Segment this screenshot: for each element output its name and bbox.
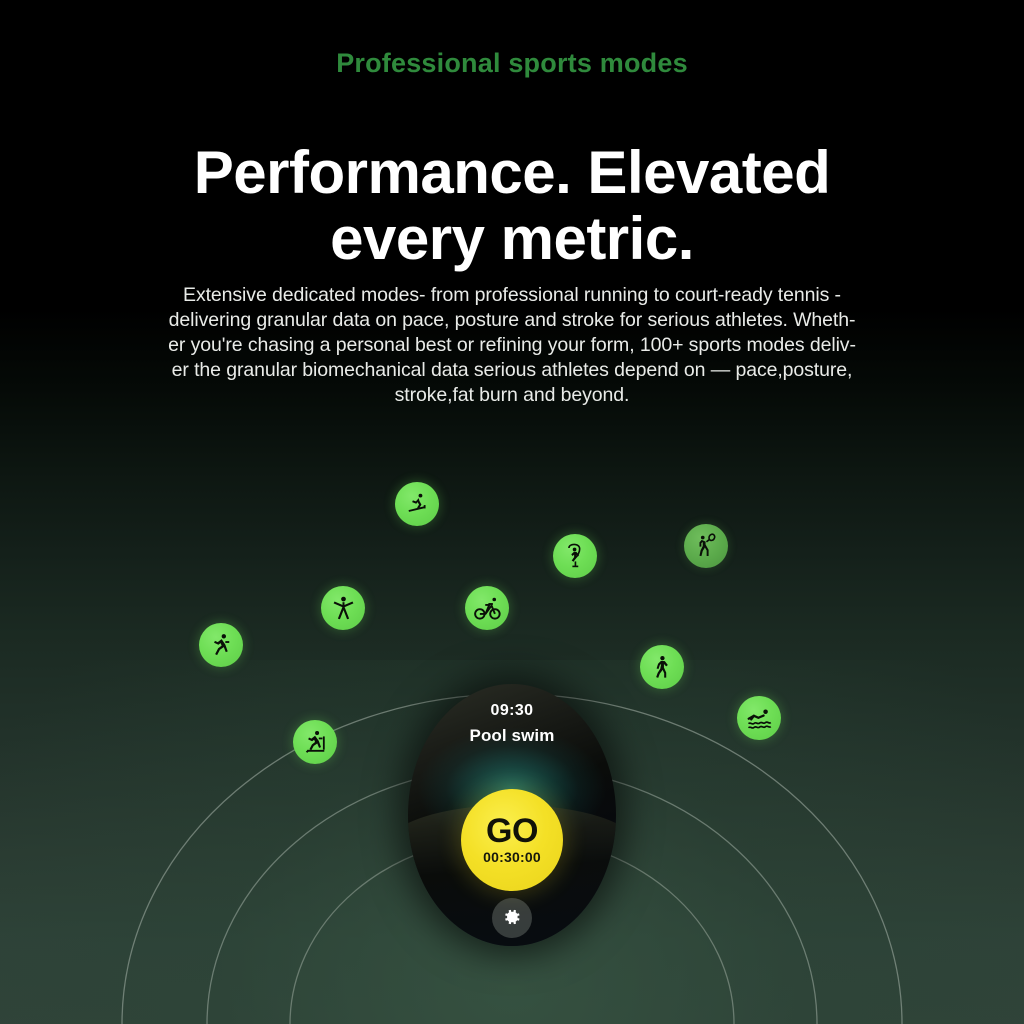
sport-mode-running[interactable] — [199, 623, 243, 667]
body-line: Extensive dedicated modes- from professi… — [96, 283, 928, 308]
watch-clock: 09:30 — [408, 702, 616, 720]
headline-line-2: every metric. — [0, 206, 1024, 272]
go-button-timer: 00:30:00 — [483, 848, 541, 866]
go-button-label: GO — [486, 815, 538, 847]
tennis-icon — [693, 533, 719, 559]
jump-rope-icon — [562, 543, 588, 569]
sport-mode-cycling[interactable] — [465, 586, 509, 630]
body-line: delivering granular data on pace, postur… — [96, 308, 928, 333]
body-line: er the granular biomechanical data serio… — [96, 358, 928, 383]
smartwatch-face: 09:30 Pool swim GO 00:30:00 — [408, 684, 616, 946]
sport-mode-tennis[interactable] — [684, 524, 728, 568]
sports-modes-page: Professional sports modes Performance. E… — [0, 0, 1024, 1024]
stretching-icon — [330, 595, 357, 622]
go-button[interactable]: GO 00:30:00 — [461, 789, 563, 891]
body-line: stroke,fat burn and beyond. — [96, 383, 928, 408]
cycling-icon — [474, 595, 501, 622]
treadmill-icon — [302, 729, 329, 756]
headline-line-1: Performance. Elevated — [194, 139, 830, 206]
page-title: Performance. Elevated every metric. — [0, 140, 1024, 272]
eyebrow-label: Professional sports modes — [0, 48, 1024, 79]
sport-mode-skiing[interactable] — [395, 482, 439, 526]
walking-icon — [649, 654, 675, 680]
watch-settings-button[interactable] — [492, 898, 532, 938]
body-paragraph: Extensive dedicated modes- from professi… — [96, 283, 928, 408]
watch-sport-mode-label: Pool swim — [408, 726, 616, 746]
sport-mode-stretching[interactable] — [321, 586, 365, 630]
running-icon — [208, 632, 234, 658]
skiing-icon — [404, 491, 430, 517]
swimming-icon — [746, 705, 773, 732]
sport-mode-swimming[interactable] — [737, 696, 781, 740]
sport-mode-treadmill[interactable] — [293, 720, 337, 764]
body-line: er you're chasing a personal best or ref… — [96, 333, 928, 358]
sport-mode-jump-rope[interactable] — [553, 534, 597, 578]
gear-icon — [502, 907, 522, 930]
sport-mode-walking[interactable] — [640, 645, 684, 689]
